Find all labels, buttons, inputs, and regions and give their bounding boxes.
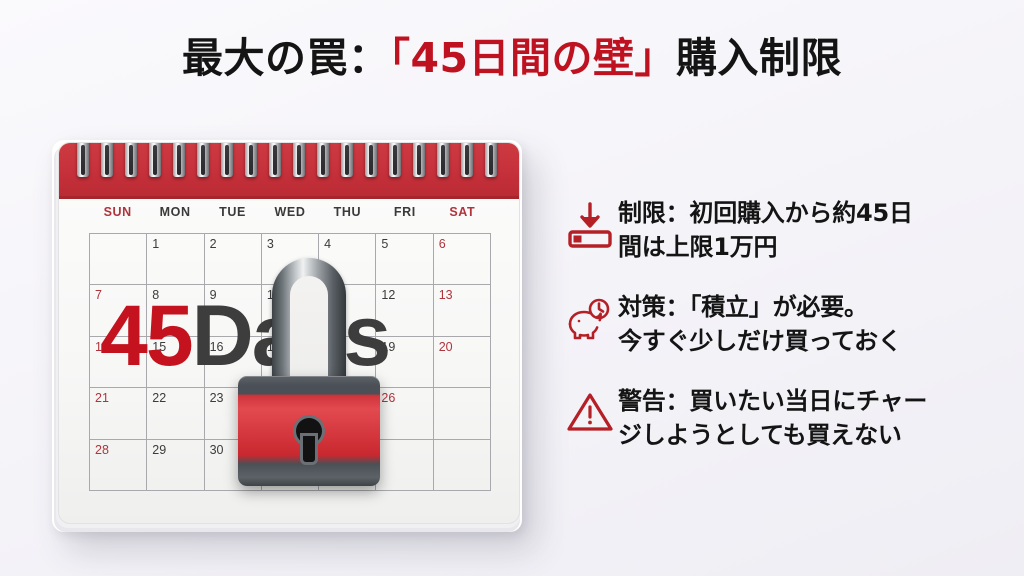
calendar-day-number: 28 — [95, 443, 109, 457]
bullet-text: 制限：初回購入から約45日間は上限1万円 — [618, 196, 913, 264]
slide-canvas: 最大の罠：「45日間の壁」購入制限 SUNMONTUEWEDTHUFRISAT … — [0, 0, 1024, 576]
calendar-day-number: 5 — [381, 237, 388, 251]
spiral-ring — [293, 142, 305, 177]
spiral-ring — [245, 142, 257, 177]
page-title: 最大の罠：「45日間の壁」購入制限 — [0, 34, 1024, 83]
spiral-ring — [101, 142, 113, 177]
calendar-day-number: 29 — [152, 443, 166, 457]
calendar-day-number: 2 — [210, 237, 217, 251]
bullet-line-2: 今すぐ少しだけ買っておく — [618, 324, 902, 358]
calendar-spiral-binding — [59, 142, 519, 181]
calendar-day-number: 1 — [152, 237, 159, 251]
spiral-ring — [389, 142, 401, 177]
calendar-day-cell[interactable]: 1 — [147, 234, 204, 285]
calendar-dow-thu: THU — [319, 205, 376, 229]
spiral-ring — [197, 142, 209, 177]
limit-bar-down-arrow-icon — [562, 196, 618, 252]
padlock-body — [238, 376, 380, 486]
calendar-day-number: 4 — [324, 237, 331, 251]
spiral-ring — [125, 142, 137, 177]
calendar-day-of-week-header: SUNMONTUEWEDTHUFRISAT — [89, 205, 491, 229]
calendar-day-number: 23 — [210, 391, 224, 405]
bullet-line-2: 間は上限1万円 — [618, 230, 913, 264]
piggy-bank-clock-icon — [562, 290, 618, 344]
spiral-ring — [173, 142, 185, 177]
spiral-ring — [341, 142, 353, 177]
calendar-day-cell[interactable]: 6 — [434, 234, 491, 285]
title-part-1: 最大の罠： — [182, 34, 390, 82]
title-part-3: 購入制限 — [676, 34, 842, 82]
spiral-ring — [365, 142, 377, 177]
calendar-dow-mon: MON — [146, 205, 203, 229]
overlay-number: 45 — [100, 288, 192, 384]
calendar-day-cell[interactable]: 21 — [90, 388, 147, 439]
keyhole-slot — [303, 436, 315, 462]
calendar-day-cell[interactable] — [90, 234, 147, 285]
calendar-day-number: 3 — [267, 237, 274, 251]
bullet-text: 警告：買いたい当日にチャージしようとしても買えない — [618, 384, 927, 452]
bullet-item-1: 制限：初回購入から約45日間は上限1万円 — [562, 196, 1014, 264]
calendar-day-cell[interactable]: 22 — [147, 388, 204, 439]
spiral-ring — [149, 142, 161, 177]
bullet-list: 制限：初回購入から約45日間は上限1万円対策：「積立」が必要。今すぐ少しだけ買っ… — [562, 196, 1014, 478]
bullet-item-3: 警告：買いたい当日にチャージしようとしても買えない — [562, 384, 1014, 452]
spiral-ring — [437, 142, 449, 177]
calendar-dow-sat: SAT — [434, 205, 491, 229]
bullet-text: 対策：「積立」が必要。今すぐ少しだけ買っておく — [618, 290, 902, 358]
calendar-day-number: 21 — [95, 391, 109, 405]
calendar-day-cell[interactable]: 28 — [90, 440, 147, 491]
calendar-day-number: 30 — [210, 443, 224, 457]
calendar-dow-sun: SUN — [89, 205, 146, 229]
calendar-day-cell[interactable] — [434, 440, 491, 491]
spiral-ring — [77, 142, 89, 177]
padlock-keyhole — [294, 418, 324, 462]
calendar-dow-tue: TUE — [204, 205, 261, 229]
spiral-ring — [269, 142, 281, 177]
bullet-item-2: 対策：「積立」が必要。今すぐ少しだけ買っておく — [562, 290, 1014, 358]
calendar-day-cell[interactable]: 29 — [147, 440, 204, 491]
bullet-line-2: ジしようとしても買えない — [618, 418, 927, 452]
warning-triangle-icon — [562, 384, 618, 434]
spiral-ring — [413, 142, 425, 177]
bullet-line-1: 制限：初回購入から約45日 — [618, 196, 913, 230]
spiral-ring — [317, 142, 329, 177]
spiral-ring — [461, 142, 473, 177]
calendar-dow-fri: FRI — [376, 205, 433, 229]
calendar-day-number: 6 — [439, 237, 446, 251]
spiral-ring — [221, 142, 233, 177]
calendar-day-number: 22 — [152, 391, 166, 405]
spiral-ring — [485, 142, 497, 177]
title-part-2-highlight: 「45日間の壁」 — [389, 34, 676, 82]
padlock-icon — [228, 256, 388, 488]
calendar-dow-wed: WED — [261, 205, 318, 229]
bullet-line-1: 対策：「積立」が必要。 — [618, 290, 902, 324]
bullet-line-1: 警告：買いたい当日にチャー — [618, 384, 927, 418]
calendar-day-cell[interactable] — [434, 388, 491, 439]
